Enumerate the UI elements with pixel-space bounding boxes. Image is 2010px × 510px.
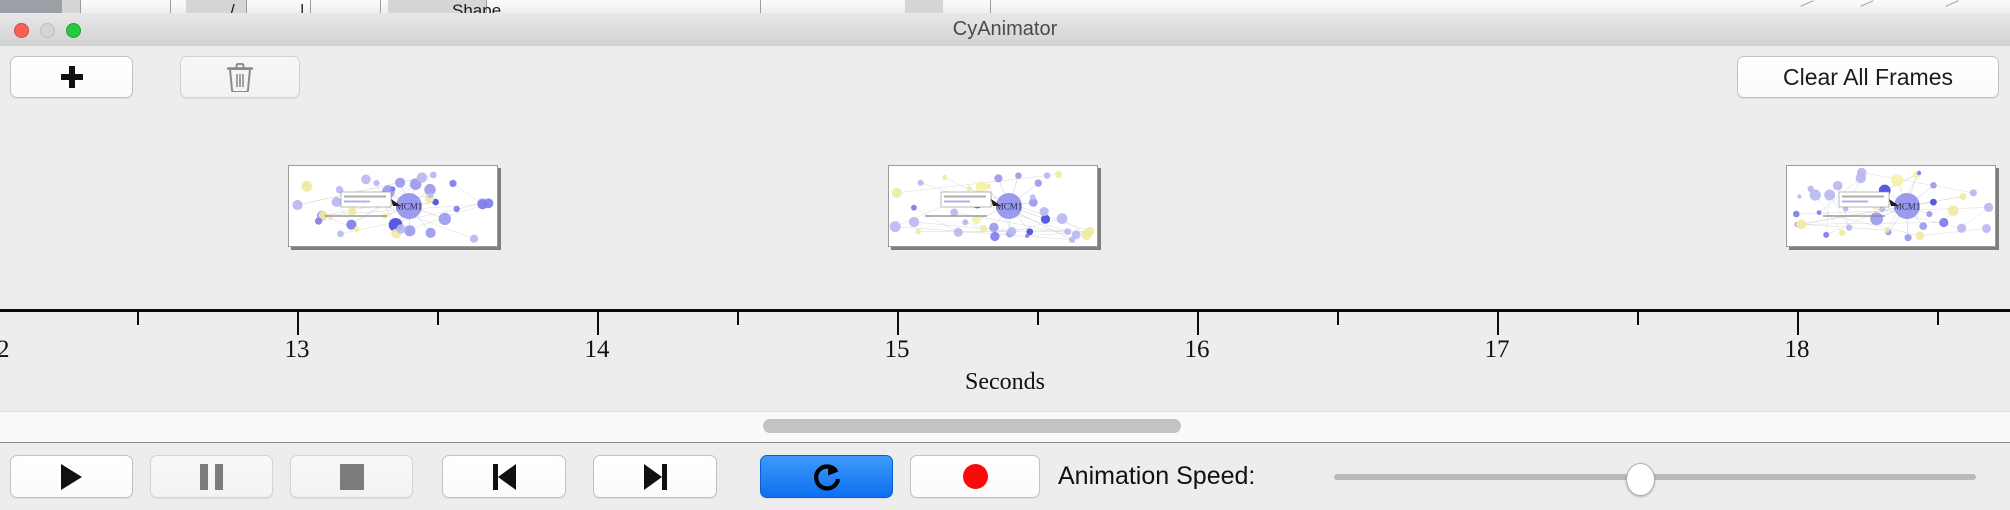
axis-tick-label: 17 — [1485, 336, 1510, 364]
axis-tick-major — [297, 312, 299, 335]
axis-tick-major — [1497, 312, 1499, 335]
axis-tick-label: 16 — [1185, 336, 1210, 364]
window-title: CyAnimator — [0, 13, 2010, 46]
frame-thumbnail[interactable]: MCM1 — [288, 165, 498, 247]
axis-tick-minor — [1337, 312, 1339, 325]
scrollbar-thumb[interactable] — [763, 419, 1181, 433]
record-icon — [963, 464, 988, 489]
delete-frame-button[interactable] — [180, 56, 300, 98]
axis-tick-label: 18 — [1785, 336, 1810, 364]
axis-tick-minor — [1637, 312, 1639, 325]
loop-icon — [812, 461, 842, 493]
previous-frame-button[interactable] — [442, 455, 566, 498]
frame-toolbar: Clear All Frames — [0, 46, 2010, 112]
stop-button[interactable] — [290, 455, 413, 498]
pause-icon — [200, 464, 223, 490]
axis-tick-minor — [137, 312, 139, 325]
play-button[interactable] — [10, 455, 133, 498]
frame-thumbnail[interactable]: MCM1 — [888, 165, 1098, 247]
play-icon — [61, 464, 82, 490]
next-frame-button[interactable] — [593, 455, 717, 498]
title-bar: CyAnimator — [0, 13, 2010, 47]
axis-tick-major — [1197, 312, 1199, 335]
timeline-scrollbar[interactable] — [0, 411, 2010, 444]
svg-text:MCM1: MCM1 — [1894, 202, 1921, 212]
stop-icon — [340, 464, 364, 490]
cyanimator-window: / | Shape CyAnimator Clear — [0, 0, 2010, 510]
skip-back-icon — [493, 464, 516, 490]
clear-all-frames-label: Clear All Frames — [1783, 64, 1953, 91]
axis-tick-label: 15 — [885, 336, 910, 364]
axis-tick-minor — [1037, 312, 1039, 325]
axis-tick-label: 12 — [0, 336, 10, 364]
clear-all-frames-button[interactable]: Clear All Frames — [1737, 56, 1999, 98]
plus-icon — [61, 66, 83, 88]
axis-tick-major — [597, 312, 599, 335]
pause-button[interactable] — [150, 455, 273, 498]
axis-title: Seconds — [0, 369, 2010, 396]
animation-speed-slider-thumb[interactable] — [1626, 463, 1655, 496]
axis-line — [0, 309, 2010, 312]
add-frame-button[interactable] — [10, 56, 133, 98]
frame-thumbnail[interactable]: MCM1 — [1786, 165, 1996, 247]
axis-tick-minor — [437, 312, 439, 325]
svg-text:MCM1: MCM1 — [396, 202, 423, 212]
axis-tick-label: 14 — [585, 336, 610, 364]
axis-tick-label: 13 — [285, 336, 310, 364]
loop-button[interactable] — [760, 455, 893, 498]
skip-forward-icon — [644, 464, 667, 490]
frames-panel[interactable]: MCM1 MCM1 MCM1 — [0, 110, 2010, 309]
axis-tick-minor — [737, 312, 739, 325]
animation-speed-label: Animation Speed: — [1058, 455, 1255, 498]
playback-control-bar: Animation Speed: — [0, 443, 2010, 510]
record-button[interactable] — [910, 455, 1040, 498]
background-window-sliver: / | Shape — [0, 0, 2010, 14]
axis-tick-minor — [1937, 312, 1939, 325]
svg-text:MCM1: MCM1 — [996, 202, 1023, 212]
axis-tick-major — [897, 312, 899, 335]
timeline-axis[interactable]: 12131415161718 Seconds — [0, 309, 2010, 411]
animation-speed-slider[interactable] — [1334, 474, 1976, 480]
trash-icon — [227, 62, 253, 92]
axis-tick-major — [1797, 312, 1799, 335]
